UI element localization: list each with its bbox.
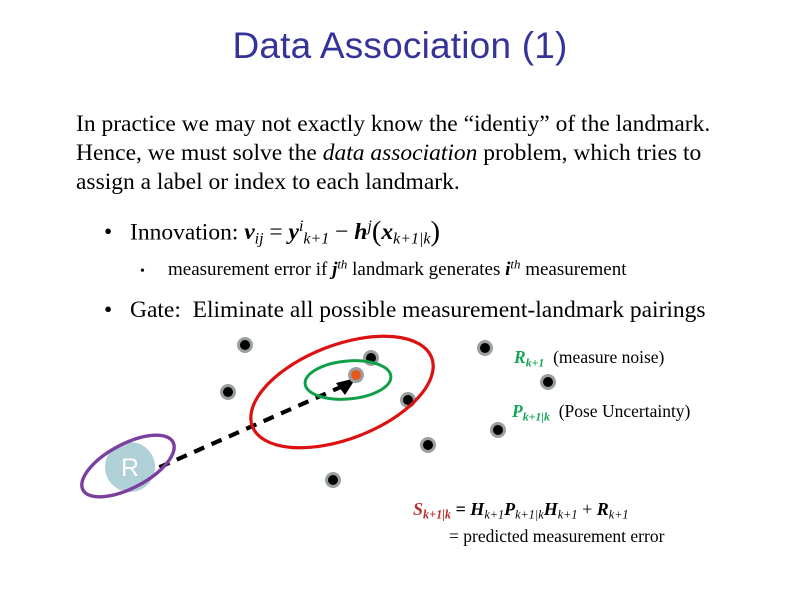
landmark-dot [477,340,493,356]
bullet-innovation-label: Innovation: [130,219,238,245]
bullet-gate: •Gate: Eliminate all possible measuremen… [104,296,706,324]
robot-label: R [121,454,139,482]
innovation-equation: νij = yik+1 − hj(xk+1|k) [244,219,440,245]
annotation-note-pose-uncertainty: (Pose Uncertainty) [559,401,691,421]
landmark-group [220,337,556,488]
eq-open-paren: ( [372,216,382,248]
bullet-measurement-error: •measurement error if jth landmark gener… [140,258,627,284]
eqS-symbol-S-sub: k+1|k [423,507,451,521]
intro-emphasis-data-association: data association [323,140,478,166]
eq-nu-sub: ij [255,231,264,248]
intro-line-2-b: problem, which tries to [477,140,701,166]
intro-line-1: In practice we may not exactly know the … [76,111,710,137]
eqS-plus: + [578,499,597,519]
eqS-line-2: = predicted measurement error [449,524,664,548]
eq-y: y [289,219,299,245]
eqS-R: R [597,499,609,519]
eqS-R-sub: k+1 [609,507,629,521]
measurement-error-post: measurement [520,259,626,280]
annotation-symbol-R: R [514,347,526,367]
landmark-dot [540,374,556,390]
landmark-dot [420,437,436,453]
intro-line-2-a: Hence, we must solve the [76,140,323,166]
eqS-H2: H [544,499,558,519]
eq-minus: − [335,219,348,245]
page-title: Data Association (1) [0,24,800,68]
eq-h: h [354,219,367,245]
eqS-P-sub: k+1|k [515,507,544,521]
bullet-marker-icon: • [104,218,130,246]
equation-innovation-covariance: Sk+1|k = Hk+1Pk+1|kHk+1 + Rk+1 = predict… [413,497,664,548]
eqS-symbol-S: S [413,499,423,519]
sight-line-group [142,378,356,475]
eq-x-sub: k+1|k [393,231,430,248]
bullet-innovation: •Innovation: νij = yik+1 − hj(xk+1|k) [104,218,440,246]
annotation-note-measure-noise: (measure noise) [553,347,664,367]
eqS-H2-sub: k+1 [558,507,578,521]
bullet-marker-icon: • [104,296,130,324]
eqS-H1-sub: k+1 [484,507,504,521]
bullet-gate-label: Gate: [130,297,181,323]
annotation-symbol-P-sub: k+1|k [523,409,550,423]
measurement-error-i-sup: th [510,257,520,272]
intro-line-3: assign a label or index to each landmark… [76,169,460,195]
eqS-rhs-H1: = H [456,499,485,519]
annotation-pose-uncertainty: Pk+1|k (Pose Uncertainty) [512,400,690,422]
measurement-error-j-sup: th [337,257,347,272]
eqS-P: P [504,499,515,519]
eq-nu: ν [244,219,254,245]
annotation-symbol-P: P [512,401,523,421]
sub-bullet-marker-icon: • [140,260,168,284]
bullet-gate-text: Eliminate all possible measurement-landm… [193,297,706,323]
predicted-measurement-point [348,367,364,383]
eq-y-sub: k+1 [303,231,329,248]
measurement-error-mid: landmark generates [347,259,505,280]
annotation-symbol-R-sub: k+1 [526,355,545,369]
landmark-dot [220,384,236,400]
line-of-sight-dashed [142,386,343,475]
annotation-measure-noise: Rk+1 (measure noise) [514,346,664,368]
eq-equals: = [269,219,282,245]
landmark-dot [490,422,506,438]
landmark-dot [237,337,253,353]
intro-paragraph: In practice we may not exactly know the … [76,110,744,197]
slide-canvas: Data Association (1) In practice we may … [0,0,800,600]
eq-x: x [381,219,393,245]
eq-close-paren: ) [430,216,440,248]
landmark-dot [325,472,341,488]
measurement-error-pre: measurement error if [168,259,332,280]
